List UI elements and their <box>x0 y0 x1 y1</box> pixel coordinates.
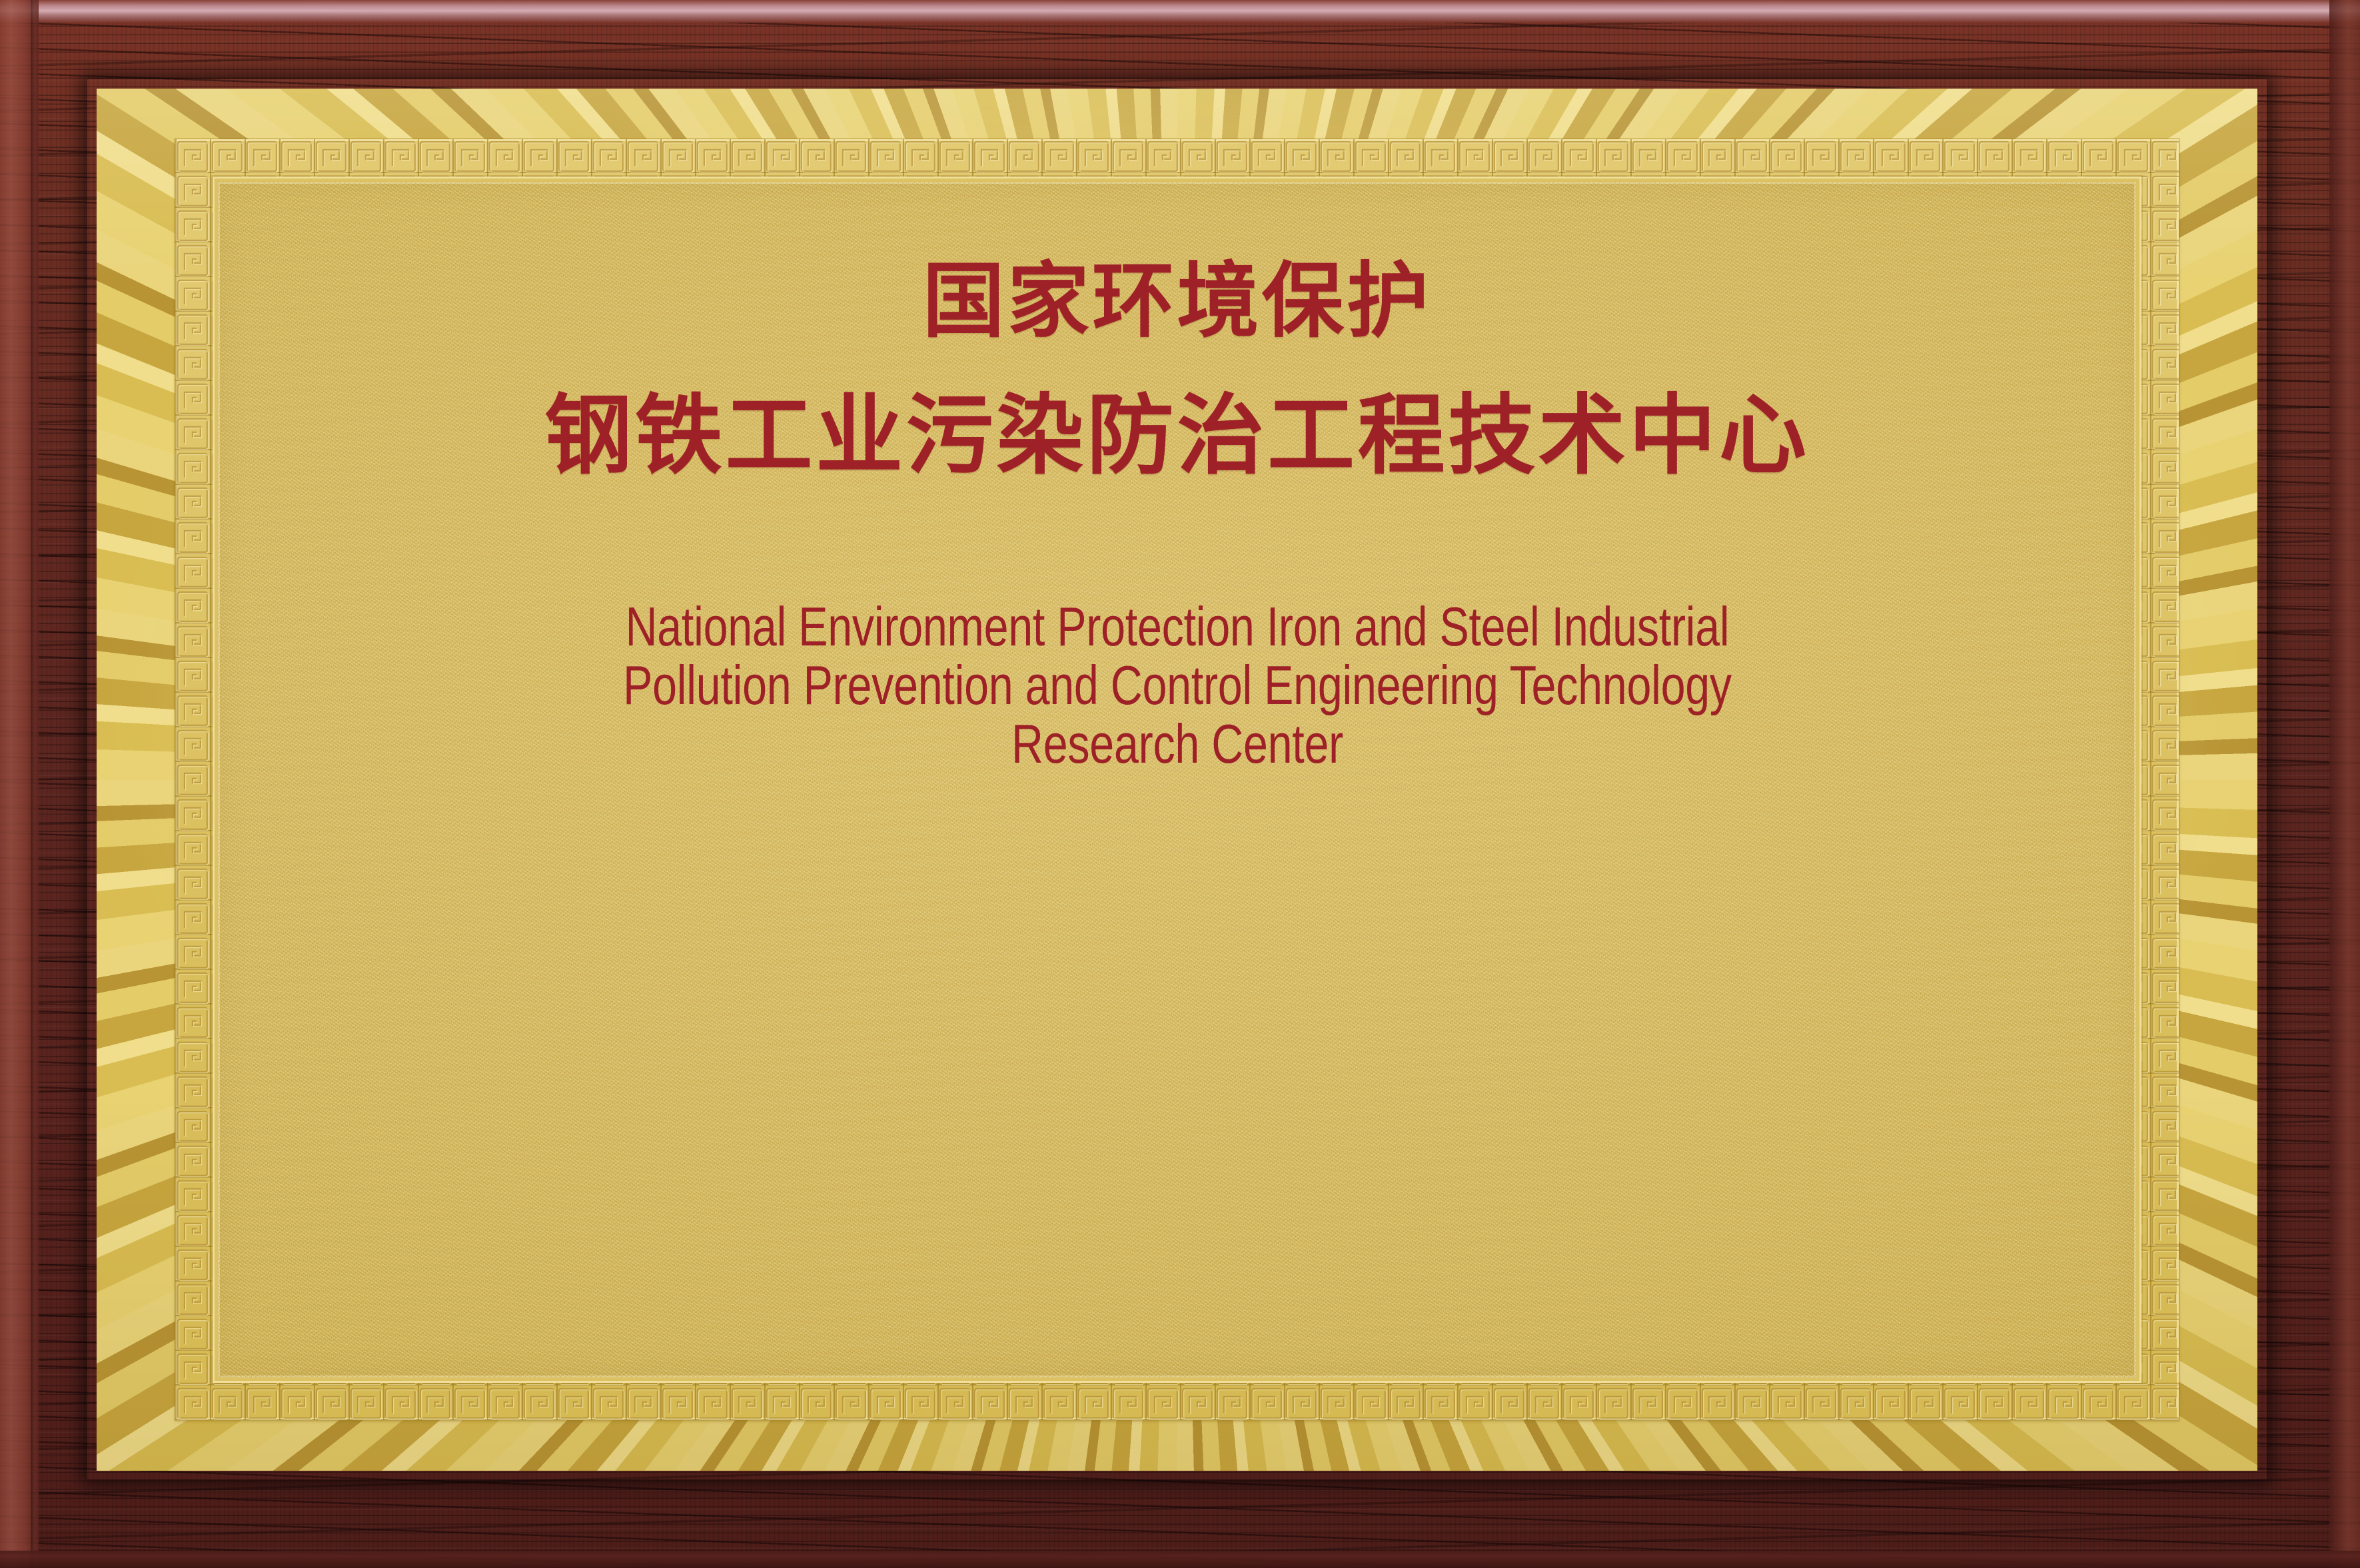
frame-bevel-bottom <box>0 1551 2360 1568</box>
english-title-line-2: Pollution Prevention and Control Enginee… <box>564 656 1790 715</box>
english-title-line-3: Research Center <box>564 715 1790 773</box>
chinese-title-line-1: 国家环境保护 <box>923 260 1432 342</box>
award-plaque: 国家环境保护 钢铁工业污染防治工程技术中心 National Environme… <box>0 0 2360 1568</box>
frame-bevel-left <box>0 0 39 1568</box>
gold-plate: 国家环境保护 钢铁工业污染防治工程技术中心 National Environme… <box>97 89 2257 1471</box>
english-title-block: National Environment Protection Iron and… <box>411 597 1944 773</box>
inscription: 国家环境保护 钢铁工业污染防治工程技术中心 National Environme… <box>97 89 2257 1471</box>
frame-bevel-top-highlight <box>0 0 2360 23</box>
english-title-line-1: National Environment Protection Iron and… <box>564 597 1790 656</box>
chinese-title-line-2: 钢铁工业污染防治工程技术中心 <box>544 392 1809 479</box>
frame-bevel-right <box>2329 0 2360 1568</box>
